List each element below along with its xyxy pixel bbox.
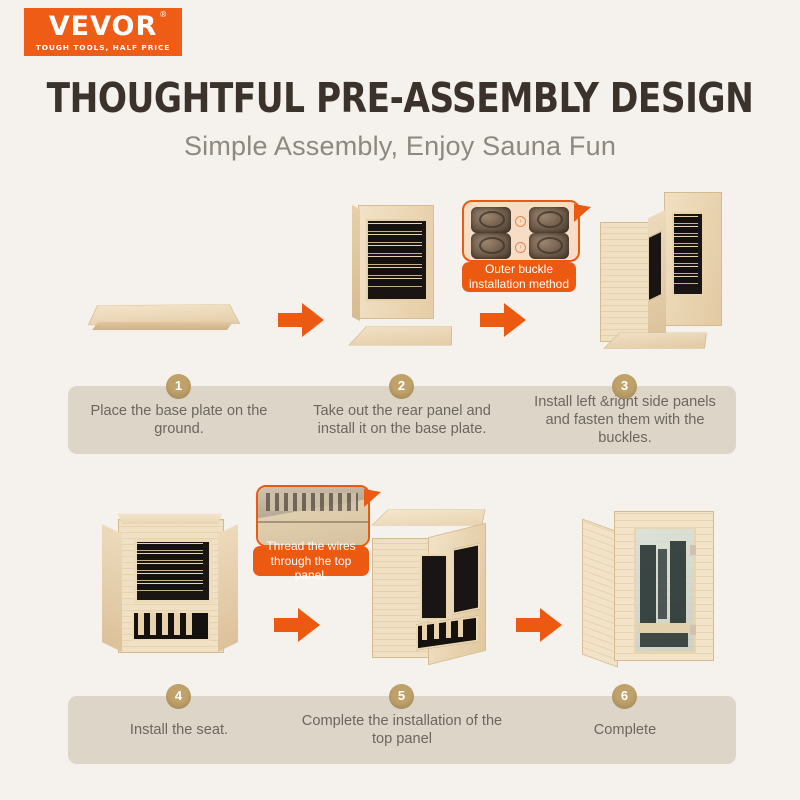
step-caption-3: 3 Install left &right side panels and fa…: [514, 386, 736, 454]
panel-seam: [258, 521, 368, 523]
step-caption-text-6: Complete: [594, 721, 656, 739]
arrow-step-1-to-2: [278, 303, 324, 337]
step-badge-1: 1: [166, 374, 191, 399]
top-panel: [371, 510, 485, 526]
illustration-step-6: [578, 505, 728, 673]
wire-detail: [266, 493, 358, 511]
registered-trademark-icon: ®: [159, 11, 168, 19]
step-badge-2: 2: [389, 374, 414, 399]
step-caption-text-5: Complete the installation of the top pan…: [297, 712, 507, 748]
illustration-step-3: [592, 192, 732, 362]
step-caption-5: 5 Complete the installation of the top p…: [291, 696, 513, 764]
callout-thread-wires: [256, 485, 370, 547]
step-caption-text-3: Install left &right side panels and fast…: [520, 393, 730, 448]
step-caption-2: 2 Take out the rear panel and install it…: [291, 386, 513, 454]
mini-arrow-icon: ›: [515, 242, 526, 253]
step-caption-text-4: Install the seat.: [130, 721, 228, 739]
arrow-step-4-to-5: [274, 608, 320, 642]
caption-bar-row-2: 4 Install the seat. 5 Complete the insta…: [68, 696, 736, 764]
step-caption-6: 6 Complete: [514, 696, 736, 764]
buckle-photo: [471, 207, 511, 233]
illustration-step-5: [360, 500, 510, 672]
vevor-logo: VEVOR ® TOUGH TOOLS, HALF PRICE: [24, 8, 182, 56]
arrow-step-2-to-3: [480, 303, 526, 337]
step-badge-5: 5: [389, 684, 414, 709]
buckle-photo: [529, 207, 569, 233]
illustration-step-2: [350, 205, 465, 360]
callout-outer-buckle: › ›: [462, 200, 580, 262]
callout-label-thread-wires: Thread the wires through the top panel.: [253, 546, 369, 576]
step-caption-text-2: Take out the rear panel and install it o…: [297, 402, 507, 438]
caption-bar-row-1: 1 Place the base plate on the ground. 2 …: [68, 386, 736, 454]
step-caption-1: 1 Place the base plate on the ground.: [68, 386, 290, 454]
illustration-step-4: [100, 505, 245, 665]
step-badge-6: 6: [612, 684, 637, 709]
logo-tagline: TOUGH TOOLS, HALF PRICE: [36, 43, 170, 52]
arrow-step-5-to-6: [516, 608, 562, 642]
page-title: THOUGHTFUL PRE-ASSEMBLY DESIGN: [28, 74, 772, 122]
buckle-photo: [471, 233, 511, 259]
mini-arrow-icon: ›: [515, 216, 526, 227]
step-badge-3: 3: [612, 374, 637, 399]
step-caption-4: 4 Install the seat.: [68, 696, 290, 764]
door-hinge: [690, 625, 696, 635]
logo-wordmark: VEVOR ®: [49, 13, 158, 40]
buckle-photo: [529, 233, 569, 259]
page-subtitle: Simple Assembly, Enjoy Sauna Fun: [0, 131, 800, 162]
callout-label-outer-buckle: Outer buckle installation method: [462, 262, 576, 292]
illustration-step-1: [85, 285, 245, 355]
callout-tail-buckle: [574, 204, 591, 222]
step-badge-4: 4: [166, 684, 191, 709]
logo-word-text: VEVOR: [49, 11, 158, 42]
door-hinge: [690, 545, 696, 555]
step-caption-text-1: Place the base plate on the ground.: [74, 402, 284, 438]
